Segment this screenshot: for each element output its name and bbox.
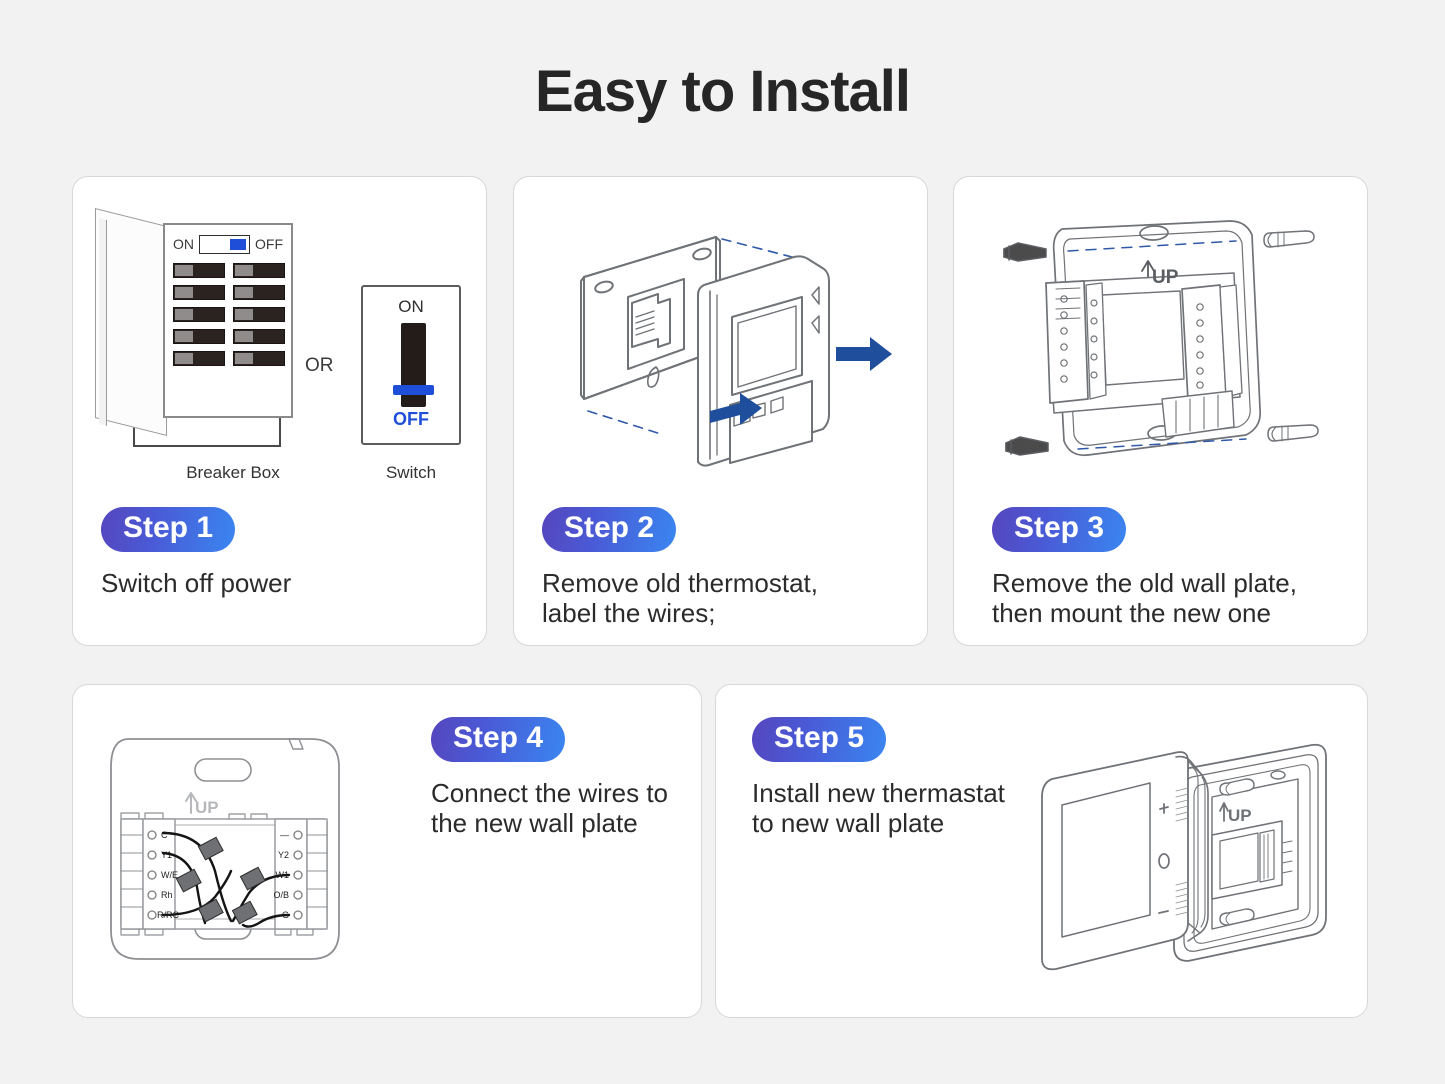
main-breaker-row: ON OFF [173, 233, 283, 255]
up-label: UP [1228, 806, 1252, 825]
wall-switch-caption: Switch [351, 463, 471, 483]
breaker-switch[interactable] [233, 329, 285, 344]
breaker-switch[interactable] [173, 351, 225, 366]
svg-text:G: G [282, 910, 289, 920]
main-breaker-knob[interactable] [230, 239, 246, 250]
new-thermostat-install-drawing: UP [1016, 713, 1356, 993]
svg-text:C: C [161, 830, 168, 840]
step-3-card: UP Step 3 Remove the old wall plate, the… [953, 176, 1368, 646]
wall-switch[interactable]: ON OFF [361, 285, 461, 445]
breaker-switch[interactable] [233, 307, 285, 322]
step-3-illustration: UP [984, 203, 1344, 493]
svg-text:—: — [280, 830, 289, 840]
step-2-illustration [524, 199, 924, 499]
breaker-switch[interactable] [233, 285, 285, 300]
breaker-switch[interactable] [233, 351, 285, 366]
breaker-switch[interactable] [173, 285, 225, 300]
step-5-card: UP Step 5 Install new thermastat to new … [715, 684, 1368, 1018]
step-1-text-block: Step 1 Switch off power [101, 507, 291, 598]
step-1-badge: Step 1 [101, 507, 235, 552]
step-1-card: ON OFF OR Breaker Box [72, 176, 487, 646]
breaker-box-door-edge [99, 218, 107, 426]
wall-plate-mount-drawing: UP [984, 203, 1344, 493]
step-4-illustration: C Y1 W/E Rh R/RC — Y2 W1 O/B G UP [93, 721, 393, 989]
or-label: OR [305, 355, 334, 377]
svg-text:W1: W1 [276, 870, 290, 880]
up-label: UP [195, 798, 219, 817]
svg-text:Y2: Y2 [278, 850, 289, 860]
step-5-illustration: UP [1016, 713, 1356, 993]
step-3-text-block: Step 3 Remove the old wall plate, then m… [992, 507, 1297, 629]
step-5-text-block: Step 5 Install new thermastat to new wal… [752, 717, 1042, 839]
step-5-description: Install new thermastat to new wall plate [752, 778, 1042, 839]
step-1-illustration: ON OFF OR Breaker Box [73, 205, 488, 505]
svg-text:R/RC: R/RC [157, 910, 179, 920]
breaker-switch[interactable] [173, 307, 225, 322]
up-label: UP [1152, 267, 1179, 288]
step-4-text-block: Step 4 Connect the wires to the new wall… [431, 717, 691, 839]
wiring-diagram-drawing: C Y1 W/E Rh R/RC — Y2 W1 O/B G UP [93, 721, 393, 989]
old-thermostat-removal-drawing [524, 199, 924, 499]
svg-text:Rh: Rh [161, 890, 173, 900]
page-title: Easy to Install [0, 58, 1445, 125]
step-3-description: Remove the old wall plate, then mount th… [992, 568, 1297, 629]
infographic-page: Easy to Install ON OFF [0, 0, 1445, 1084]
step-4-card: C Y1 W/E Rh R/RC — Y2 W1 O/B G UP Step 4… [72, 684, 702, 1018]
svg-text:O/B: O/B [273, 890, 289, 900]
main-breaker-off-label: OFF [255, 236, 283, 252]
breaker-switch[interactable] [173, 263, 225, 278]
step-1-description: Switch off power [101, 568, 291, 599]
step-2-badge: Step 2 [542, 507, 676, 552]
svg-text:W/E: W/E [161, 870, 178, 880]
wall-switch-off-label: OFF [363, 409, 459, 430]
main-breaker-track[interactable] [199, 235, 250, 254]
svg-text:Y1: Y1 [161, 850, 172, 860]
step-4-description: Connect the wires to the new wall plate [431, 778, 691, 839]
step-2-text-block: Step 2 Remove old thermostat, label the … [542, 507, 818, 629]
breaker-box-caption: Breaker Box [133, 463, 333, 483]
step-4-badge: Step 4 [431, 717, 565, 762]
main-breaker-on-label: ON [173, 236, 194, 252]
step-2-card: Step 2 Remove old thermostat, label the … [513, 176, 928, 646]
step-5-badge: Step 5 [752, 717, 886, 762]
breaker-switch[interactable] [173, 329, 225, 344]
wall-switch-on-label: ON [363, 297, 459, 317]
breaker-switch[interactable] [233, 263, 285, 278]
breaker-switch-grid [173, 263, 285, 366]
step-2-description: Remove old thermostat, label the wires; [542, 568, 818, 629]
wall-switch-slider[interactable] [393, 385, 434, 395]
step-3-badge: Step 3 [992, 507, 1126, 552]
